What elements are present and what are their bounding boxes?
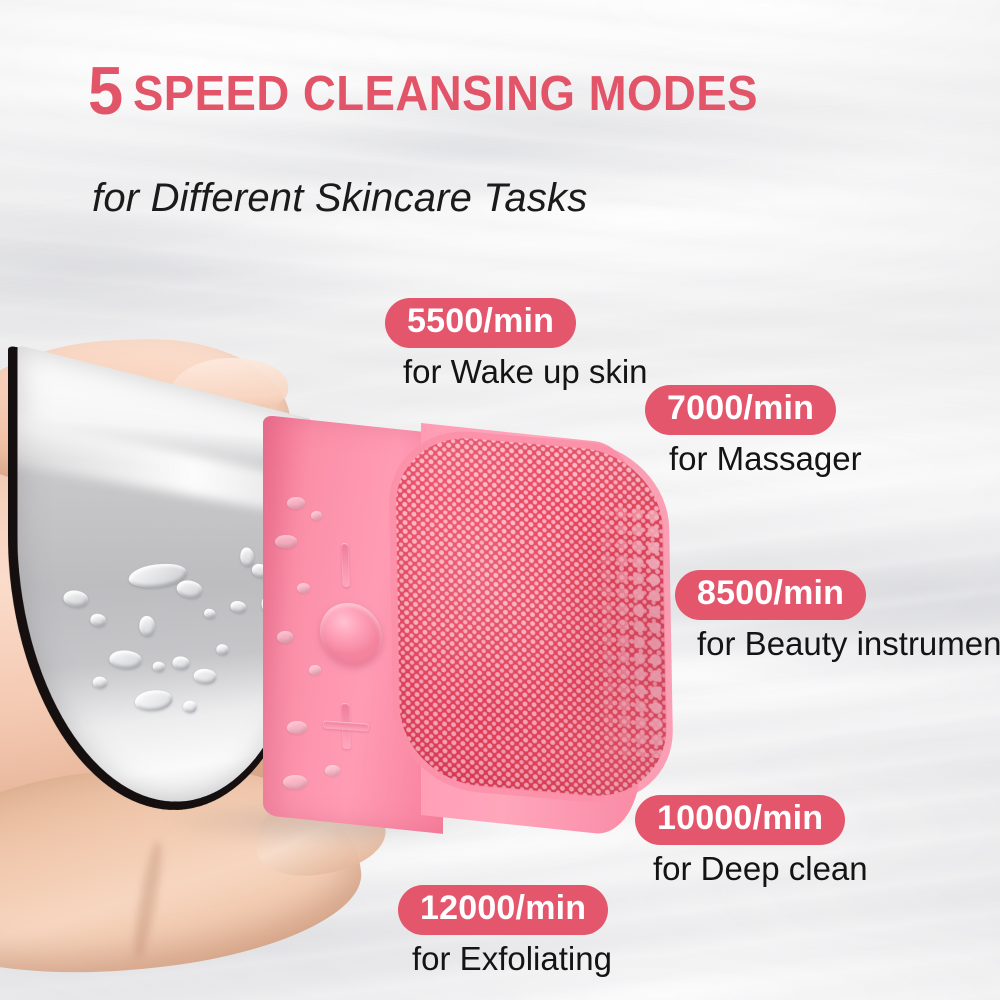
water-droplet [63,589,88,608]
callout-caption: for Wake up skin [403,353,648,392]
water-droplet [177,579,202,599]
page-title: 5SPEED CLEANSING MODES [88,66,758,122]
page-title-text: SPEED CLEANSING MODES [133,67,758,121]
water-droplet [325,765,340,776]
speed-badge: 5500/min [385,298,576,348]
callout-caption: for Massager [669,440,862,479]
water-droplet [134,689,174,713]
water-droplet [240,547,254,568]
water-droplet [309,665,321,675]
water-droplet [109,649,141,669]
water-droplet [139,615,155,637]
speed-badge: 12000/min [398,885,608,935]
callout-wake-up-skin: 5500/min for Wake up skin [385,298,648,392]
water-droplet [172,656,189,670]
callout-deep-clean: 10000/min for Deep clean [635,795,868,889]
water-droplet [311,511,322,520]
plus-button[interactable] [322,701,370,750]
water-droplet [297,583,310,593]
page-subtitle: for Different Skincare Tasks [92,176,587,221]
brush-head-rim [388,424,674,809]
product-infographic: 5SPEED CLEANSING MODES for Different Ski… [0,0,1000,1000]
water-droplet [275,535,297,548]
callout-exfoliating: 12000/min for Exfoliating [398,885,612,979]
callout-massager: 7000/min for Massager [645,385,862,479]
water-droplet [183,700,197,712]
water-droplet [153,661,165,672]
speed-badge: 10000/min [635,795,845,845]
water-droplet [277,631,293,643]
callout-caption: for Beauty instrument [697,625,1000,664]
water-droplet [204,608,215,619]
callout-caption: for Exfoliating [412,940,612,979]
water-droplet [194,668,217,684]
water-droplet [230,600,246,613]
speed-badge: 8500/min [675,570,866,620]
water-droplet [90,613,105,627]
cleansing-device [25,415,685,835]
water-droplet [93,676,107,688]
water-droplet [287,497,305,509]
water-droplet [287,721,307,734]
callout-beauty-instrument: 8500/min for Beauty instrument [675,570,1000,664]
callout-caption: for Deep clean [653,850,868,889]
mode-count: 5 [88,53,124,129]
speed-badge: 7000/min [645,385,836,435]
water-droplet [216,644,228,656]
water-droplet [283,775,307,789]
